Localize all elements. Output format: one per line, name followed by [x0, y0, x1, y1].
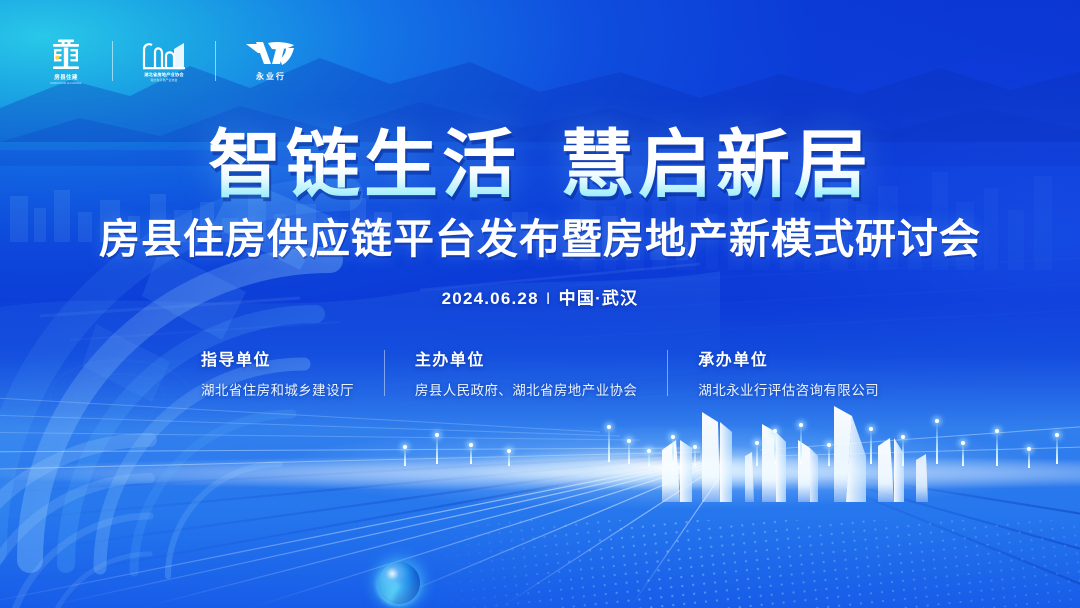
hba-building-mark-icon — [141, 40, 187, 70]
event-date: 2024.06.28 — [442, 289, 539, 308]
logo-divider-2 — [215, 41, 216, 81]
organizer-unit-name: 湖北省住房和城乡建设厅 — [201, 379, 354, 399]
fangxian-housing-mark-icon — [49, 37, 83, 71]
logo-divider-1 — [112, 41, 113, 81]
logo-fangxian-sublabel: FANGXIAN HOUSING — [50, 81, 81, 85]
headline-part-1: 智链生活 — [208, 122, 520, 208]
dateline-separator: I — [546, 289, 552, 308]
logo-hba-sublabel: 湖北省房地产业协会 — [151, 78, 178, 82]
yongyehang-yh-mark-icon — [242, 40, 300, 68]
organizer-organizer: 承办单位 湖北永业行评估咨询有限公司 — [668, 346, 909, 399]
event-location: 中国·武汉 — [559, 289, 639, 308]
headline-part-2: 慧启新居 — [560, 122, 872, 208]
page-title: 智链生活慧启新居 — [0, 123, 1080, 207]
organizer-unit-name: 房县人民政府、湖北省房地产业协会 — [415, 379, 637, 399]
event-dateline: 2024.06.28I中国·武汉 — [0, 284, 1080, 309]
poster-canvas: 房县住建 FANGXIAN HOUSING 湖北省房地产业协会 湖北省房地产业 — [0, 0, 1080, 608]
logo-fangxian-housing[interactable]: 房县住建 FANGXIAN HOUSING — [38, 37, 94, 85]
logo-yongyehang[interactable]: 永业行 — [234, 40, 308, 82]
organizer-role-label: 指导单位 — [201, 346, 354, 370]
logo-yongyehang-label: 永业行 — [256, 71, 286, 82]
organizer-guidance: 指导单位 湖北省住房和城乡建设厅 — [171, 346, 384, 399]
organizer-unit-name: 湖北永业行评估咨询有限公司 — [698, 379, 879, 399]
organizer-role-label: 承办单位 — [698, 346, 879, 370]
logo-hubei-real-estate-association[interactable]: 湖北省房地产业协会 湖北省房地产业协会 — [131, 40, 197, 82]
logo-fangxian-label: 房县住建 — [54, 73, 78, 81]
organizer-host: 主办单位 房县人民政府、湖北省房地产业协会 — [385, 346, 667, 399]
logo-bar: 房县住建 FANGXIAN HOUSING 湖北省房地产业协会 湖北省房地产业 — [38, 33, 308, 89]
organizer-list: 指导单位 湖北省住房和城乡建设厅 主办单位 房县人民政府、湖北省房地产业协会 承… — [0, 346, 1080, 399]
page-subtitle: 房县住房供应链平台发布暨房地产新模式研讨会 — [0, 215, 1080, 263]
organizer-role-label: 主办单位 — [415, 346, 637, 370]
